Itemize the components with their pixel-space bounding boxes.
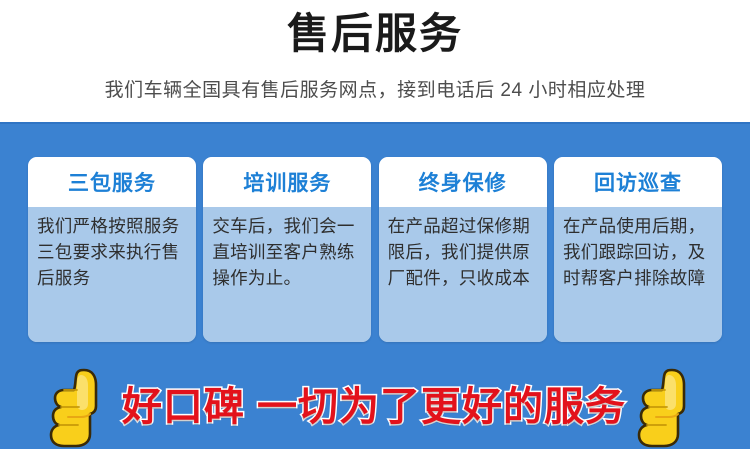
- service-card-header: 三包服务: [28, 157, 196, 207]
- service-card-body: 我们严格按照服务三包要求来执行售后服务: [28, 207, 196, 342]
- service-card-header: 培训服务: [203, 157, 371, 207]
- thumbs-up-icon: [632, 364, 706, 450]
- service-card-title: 终身保修: [419, 167, 507, 197]
- service-card: 培训服务 交车后，我们会一直培训至客户熟练操作为止。: [203, 157, 371, 342]
- service-card-text: 我们严格按照服务三包要求来执行售后服务: [37, 213, 187, 291]
- service-cards-row: 三包服务 我们严格按照服务三包要求来执行售后服务 培训服务 交车后，我们会一直培…: [28, 157, 722, 342]
- header-section: 售后服务 我们车辆全国具有售后服务网点，接到电话后 24 小时相应处理: [0, 0, 750, 122]
- slogan-text: 好口碑 一切为了更好的服务: [122, 381, 626, 433]
- service-card-title: 回访巡查: [594, 167, 682, 197]
- service-card-header: 终身保修: [379, 157, 547, 207]
- service-card: 终身保修 在产品超过保修期限后，我们提供原厂配件，只收成本: [379, 157, 547, 342]
- service-card: 回访巡查 在产品使用后期，我们跟踪回访，及时帮客户排除故障: [554, 157, 722, 342]
- blue-panel: 三包服务 我们严格按照服务三包要求来执行售后服务 培训服务 交车后，我们会一直培…: [0, 122, 750, 449]
- slogan-bar: 好口碑 一切为了更好的服务: [0, 362, 750, 451]
- service-card-body: 在产品超过保修期限后，我们提供原厂配件，只收成本: [379, 207, 547, 342]
- page-title: 售后服务: [0, 8, 750, 60]
- page-subtitle: 我们车辆全国具有售后服务网点，接到电话后 24 小时相应处理: [0, 78, 750, 104]
- service-card-body: 在产品使用后期，我们跟踪回访，及时帮客户排除故障: [554, 207, 722, 342]
- service-card-text: 交车后，我们会一直培训至客户熟练操作为止。: [212, 213, 362, 291]
- promo-banner: 售后服务 我们车辆全国具有售后服务网点，接到电话后 24 小时相应处理 三包服务…: [0, 0, 750, 449]
- service-card-title: 培训服务: [243, 167, 331, 197]
- service-card: 三包服务 我们严格按照服务三包要求来执行售后服务: [28, 157, 196, 342]
- service-card-header: 回访巡查: [554, 157, 722, 207]
- service-card-text: 在产品使用后期，我们跟踪回访，及时帮客户排除故障: [563, 213, 713, 291]
- service-card-title: 三包服务: [68, 167, 156, 197]
- thumbs-up-icon: [44, 364, 118, 450]
- service-card-body: 交车后，我们会一直培训至客户熟练操作为止。: [203, 207, 371, 342]
- service-card-text: 在产品超过保修期限后，我们提供原厂配件，只收成本: [388, 213, 538, 291]
